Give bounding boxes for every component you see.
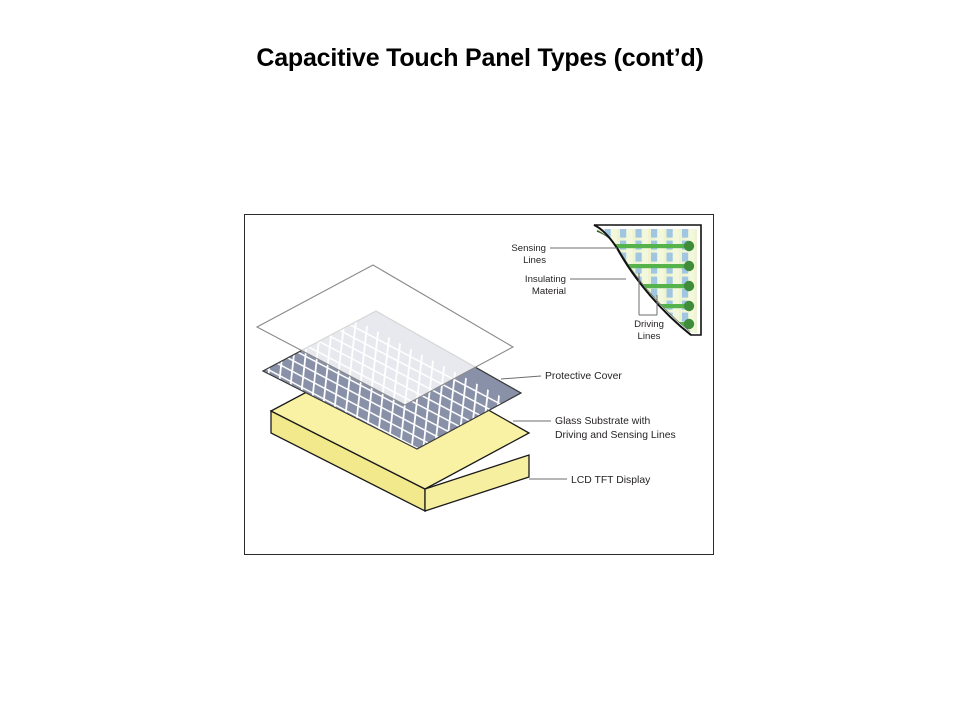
label-glass-substrate-line1: Glass Substrate with: [555, 416, 651, 427]
page-title: Capacitive Touch Panel Types (cont’d): [0, 44, 960, 73]
label-driving-lines-line1: Driving: [634, 319, 664, 330]
label-sensing-lines-line2: Lines: [523, 255, 546, 266]
touch-panel-diagram: Sensing Lines Insulating Material Drivin…: [245, 215, 713, 554]
label-lcd-tft-display: LCD TFT Display: [571, 475, 651, 486]
protective-cover-leader: [501, 376, 541, 379]
label-sensing-lines-line1: Sensing: [511, 243, 546, 254]
figure-frame: Sensing Lines Insulating Material Drivin…: [244, 214, 714, 555]
label-protective-cover: Protective Cover: [545, 371, 622, 382]
slide-canvas: Capacitive Touch Panel Types (cont’d): [0, 0, 960, 720]
label-insulating-material-line1: Insulating: [525, 274, 566, 285]
label-driving-lines-line2: Lines: [638, 331, 661, 342]
label-insulating-material-line2: Material: [532, 286, 566, 297]
inset-cutaway-detail: Sensing Lines Insulating Material Drivin…: [511, 225, 701, 342]
label-glass-substrate-line2: Driving and Sensing Lines: [555, 430, 676, 441]
